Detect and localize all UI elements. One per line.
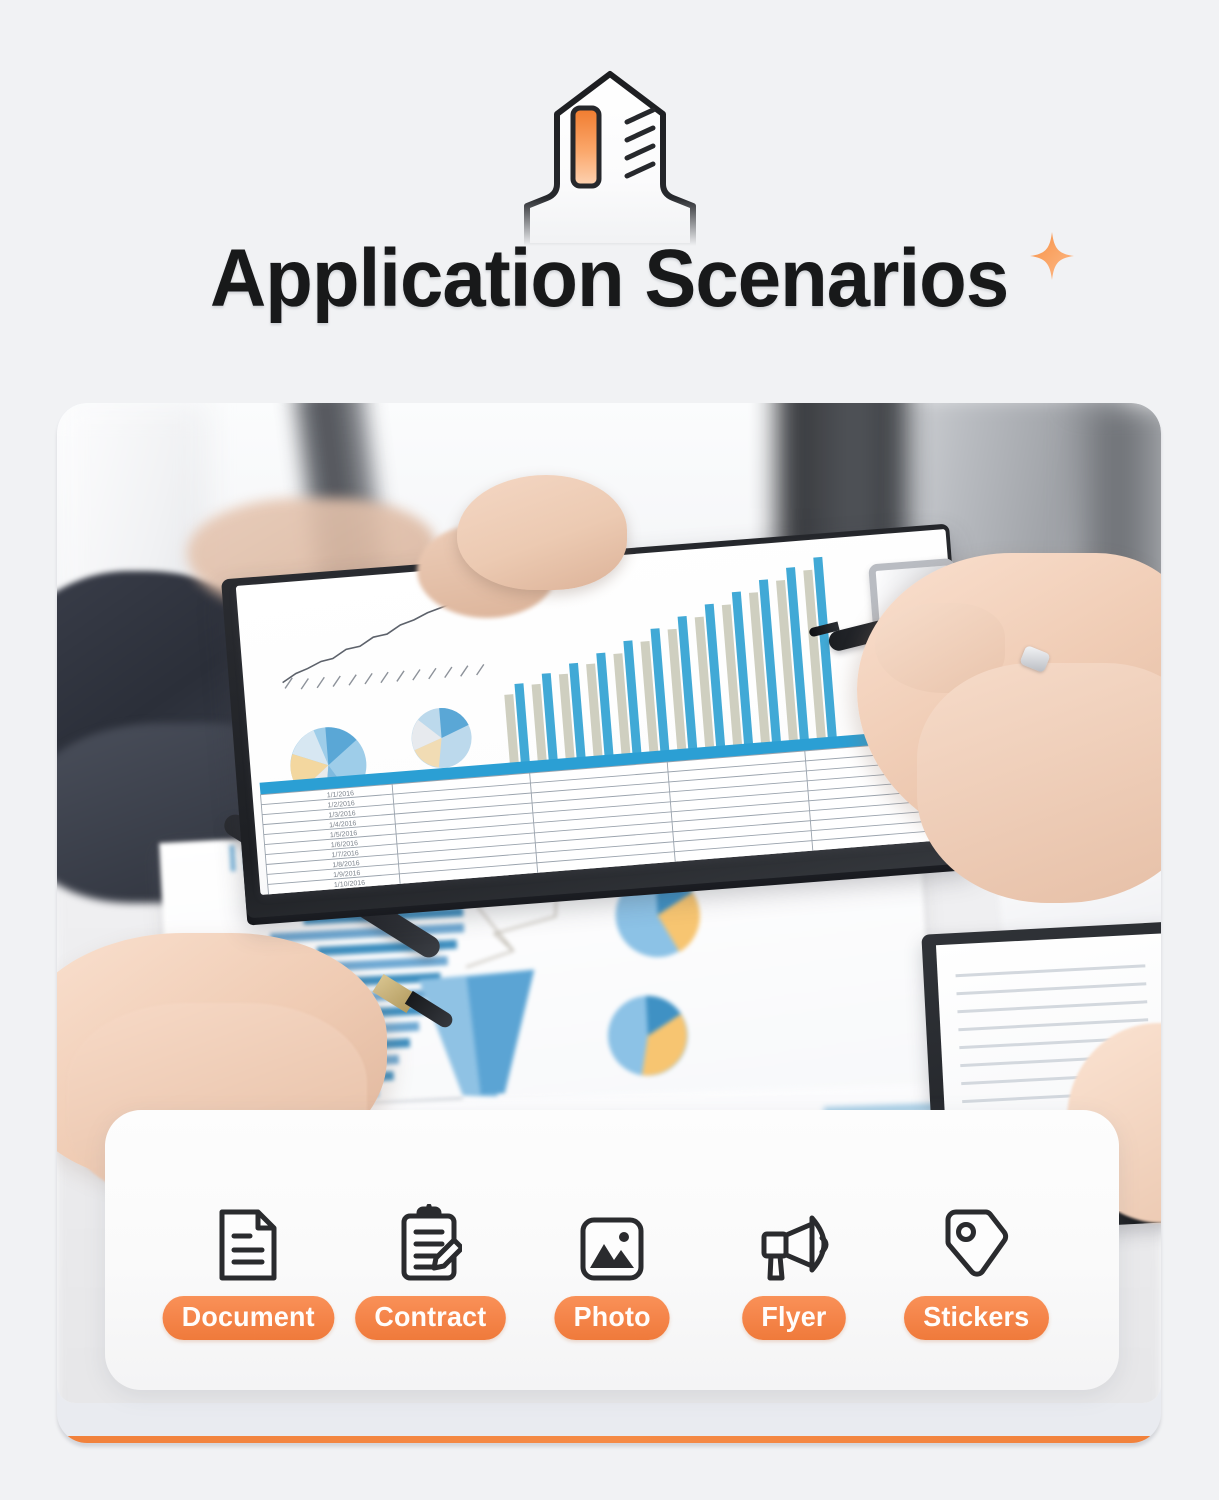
clipboard-pen-icon	[398, 1196, 462, 1282]
sparkle-star-icon	[1030, 232, 1074, 280]
page-header: Application Scenarios	[0, 0, 1219, 390]
scenario-badges-card: Document Contract	[105, 1110, 1119, 1390]
image-picture-icon	[579, 1196, 645, 1282]
scenario-item-contract[interactable]: Contract	[339, 1196, 521, 1340]
scenario-item-flyer[interactable]: Flyer	[703, 1196, 885, 1340]
scenario-label-flyer[interactable]: Flyer	[742, 1296, 846, 1340]
document-page-icon	[218, 1196, 278, 1282]
scenario-item-stickers[interactable]: Stickers	[885, 1196, 1067, 1340]
scenario-label-document[interactable]: Document	[162, 1296, 333, 1340]
scenario-label-contract[interactable]: Contract	[355, 1296, 505, 1340]
building-tower-icon	[505, 66, 715, 246]
price-tag-icon	[942, 1196, 1010, 1282]
page-title: Application Scenarios	[210, 238, 1008, 320]
megaphone-icon	[758, 1196, 830, 1282]
scenario-item-photo[interactable]: Photo	[521, 1196, 703, 1340]
scenario-label-photo[interactable]: Photo	[554, 1296, 670, 1340]
scenario-item-document[interactable]: Document	[157, 1196, 339, 1340]
scenario-label-stickers[interactable]: Stickers	[904, 1296, 1049, 1340]
scenario-badges-row: Document Contract	[105, 1110, 1119, 1340]
